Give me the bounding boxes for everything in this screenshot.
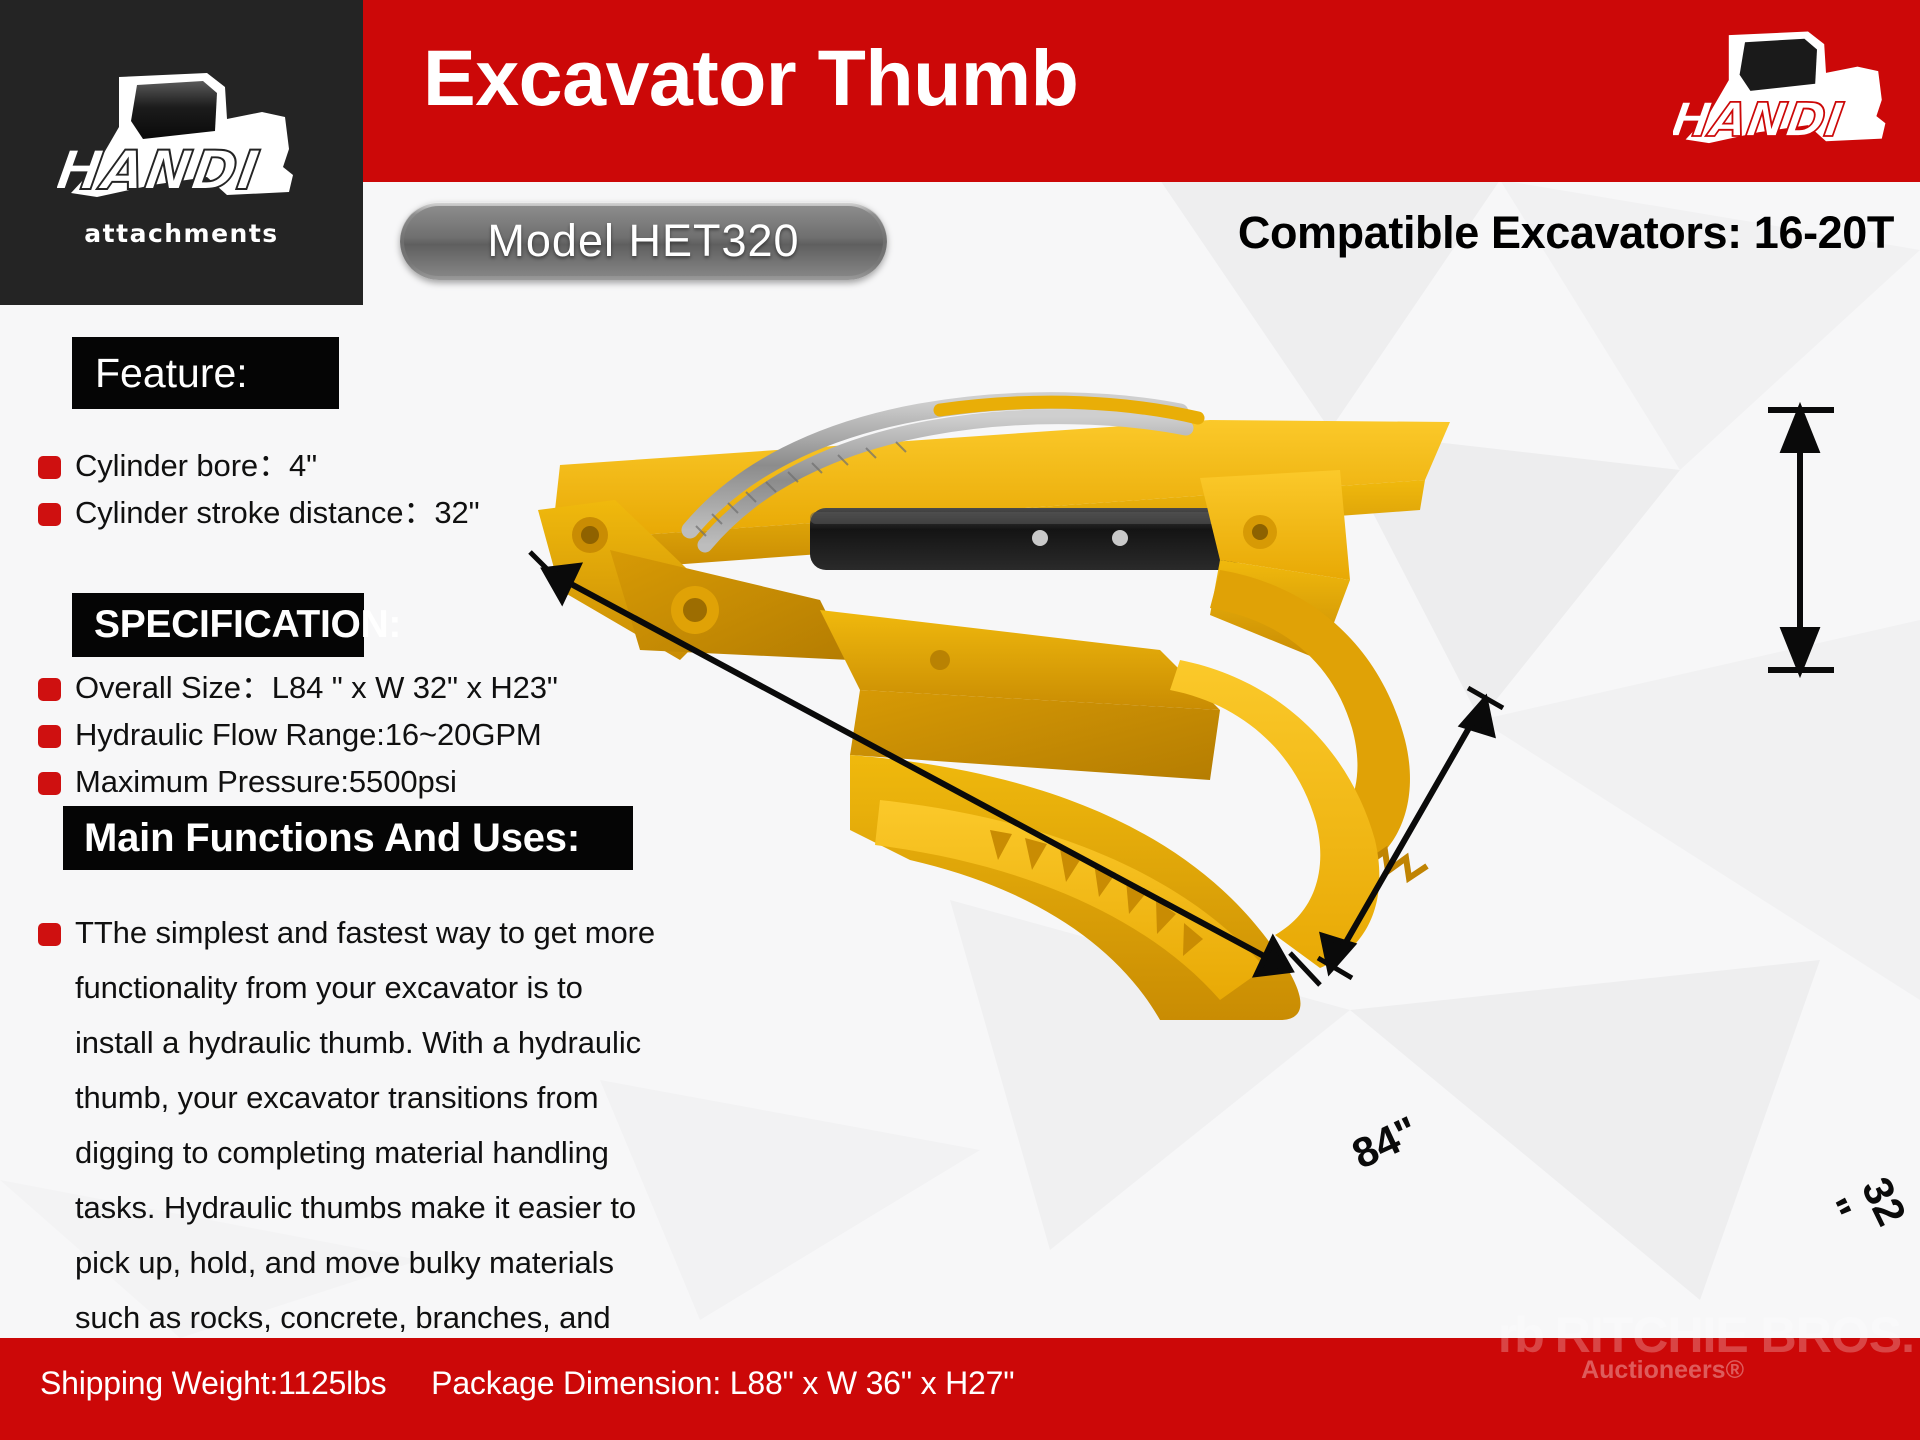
specification-list: Overall Size：L84 " x W 32" x H23" Hydrau… — [38, 665, 558, 806]
list-item: Overall Size：L84 " x W 32" x H23" — [38, 665, 558, 710]
bullet-icon — [38, 456, 61, 479]
bullet-icon — [38, 772, 61, 795]
bullet-icon — [38, 725, 61, 748]
dimension-annotations: 84" 32 " 23" — [500, 370, 1920, 1010]
model-badge-label: Model HET320 — [404, 206, 883, 276]
spec-item-1: Hydraulic Flow Range:16~20GPM — [75, 712, 542, 757]
spec-sheet-canvas: HANDI attachments Excavator Thumb HANDI … — [0, 0, 1920, 1440]
specification-heading: SPECIFICATION: — [72, 593, 364, 657]
svg-text:HANDI: HANDI — [1673, 93, 1847, 148]
watermark-subtitle: Auctioneers® — [1498, 1356, 1744, 1385]
list-item: Hydraulic Flow Range:16~20GPM — [38, 712, 558, 757]
bullet-icon — [38, 678, 61, 701]
bullet-icon — [38, 923, 61, 946]
shipping-weight-label: Shipping Weight:1125lbs — [40, 1365, 386, 1401]
list-item: Maximum Pressure:5500psi — [38, 759, 558, 804]
model-badge: Model HET320 — [400, 202, 887, 280]
package-dimension-label: Package Dimension: L88" x W 36" x H27" — [431, 1365, 1014, 1401]
watermark-rb: rb — [1498, 1307, 1542, 1363]
brand-logo-header-icon: HANDI — [1673, 20, 1898, 160]
skid-steer-loader-icon: HANDI — [57, 57, 307, 227]
page-title: Excavator Thumb — [423, 38, 1078, 117]
ritchie-bros-watermark: rb RITCHIE BROS. Auctioneers® — [1498, 1306, 1914, 1385]
footer-text: Shipping Weight:1125lbs Package Dimensio… — [40, 1365, 1050, 1402]
brand-logo-box: HANDI attachments — [0, 0, 363, 305]
feature-item-1: Cylinder stroke distance：32" — [75, 490, 480, 535]
watermark-title: RITCHIE BROS. — [1555, 1307, 1914, 1363]
feature-heading: Feature: — [72, 337, 339, 409]
list-item: Cylinder bore：4" — [38, 443, 480, 488]
compatible-excavators-label: Compatible Excavators: 16-20T — [1238, 207, 1894, 259]
spec-item-2: Maximum Pressure:5500psi — [75, 759, 457, 804]
svg-text:HANDI: HANDI — [57, 139, 264, 202]
spec-item-0: Overall Size：L84 " x W 32" x H23" — [75, 665, 558, 710]
list-item: Cylinder stroke distance：32" — [38, 490, 480, 535]
bullet-icon — [38, 503, 61, 526]
feature-list: Cylinder bore：4" Cylinder stroke distanc… — [38, 443, 480, 537]
feature-item-0: Cylinder bore：4" — [75, 443, 317, 488]
